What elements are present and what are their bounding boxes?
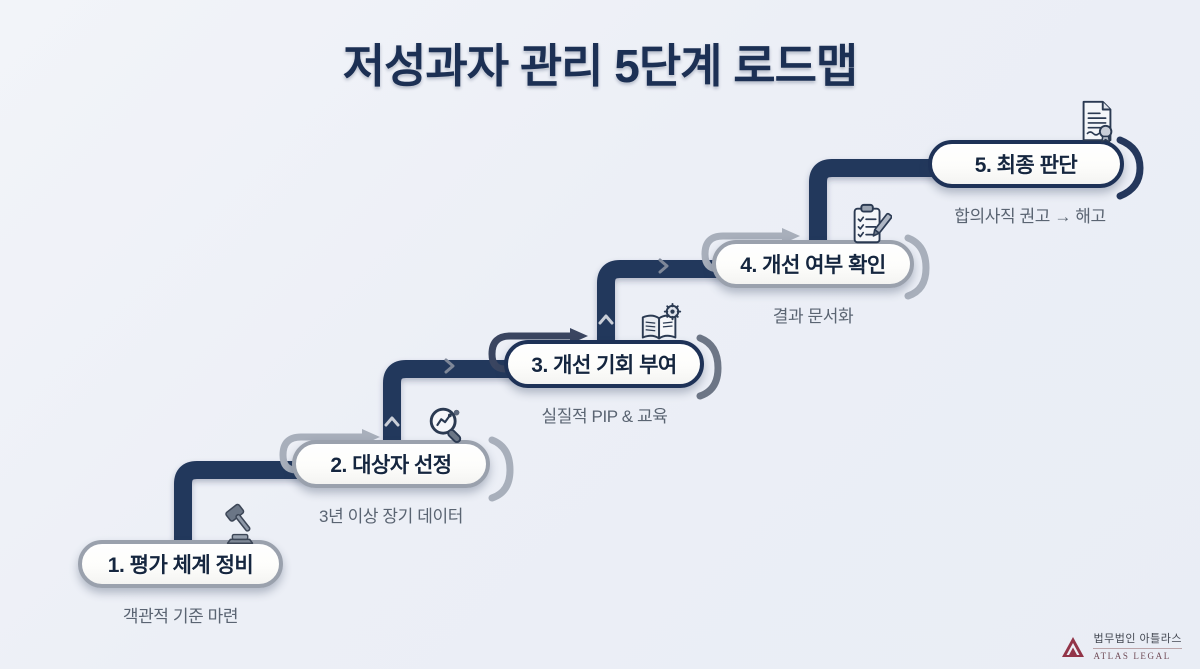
infographic-canvas: 저성과자 관리 5단계 로드맵 — [0, 0, 1200, 669]
step-2-label: 2. 대상자 선정 — [308, 449, 473, 479]
logo-text: 법무법인 아틀라스 ATLAS LEGAL — [1093, 633, 1182, 661]
clipboard-pen-icon — [846, 202, 892, 248]
step-4-subtitle: 결과 문서화 — [712, 302, 914, 327]
certificate-seal-icon — [1074, 98, 1120, 144]
book-gear-icon — [638, 302, 684, 348]
step-1-label: 1. 평가 체계 정비 — [86, 549, 275, 579]
step-3[interactable]: 3. 개선 기회 부여 실질적 PIP & 교육 — [504, 340, 704, 388]
triangle-mark-icon — [1060, 634, 1086, 660]
gavel-icon — [218, 502, 264, 548]
step-2-subtitle: 3년 이상 장기 데이터 — [286, 502, 496, 527]
company-logo: 법무법인 아틀라스 ATLAS LEGAL — [1060, 633, 1182, 661]
step-4[interactable]: 4. 개선 여부 확인 — [712, 240, 914, 288]
step-1[interactable]: 1. 평가 체계 정비 객관적 기준 마련 — [78, 540, 283, 588]
logo-name-en: ATLAS LEGAL — [1093, 651, 1182, 661]
magnifier-chart-icon — [424, 402, 470, 448]
step-1-subtitle: 객관적 기준 마련 — [78, 602, 283, 627]
step-4-label: 4. 개선 여부 확인 — [718, 249, 907, 279]
step-5-label: 5. 최종 판단 — [953, 149, 1099, 179]
step-3-label: 3. 개선 기회 부여 — [509, 349, 698, 379]
step-5[interactable]: 5. 최종 판단 합의사직 권고 → 해고 — [928, 140, 1124, 188]
step-2[interactable]: 2. 대상자 선정 3년 이상 장기 데이터 — [292, 440, 490, 488]
loop-step2-right — [492, 440, 510, 498]
logo-name-kr: 법무법인 아틀라스 — [1093, 633, 1182, 646]
logo-divider — [1093, 648, 1182, 649]
step-5-subtitle: 합의사직 권고 → 해고 — [932, 202, 1128, 227]
step-3-subtitle: 실질적 PIP & 교육 — [502, 402, 707, 427]
step-5-pill[interactable]: 5. 최종 판단 — [928, 140, 1124, 188]
